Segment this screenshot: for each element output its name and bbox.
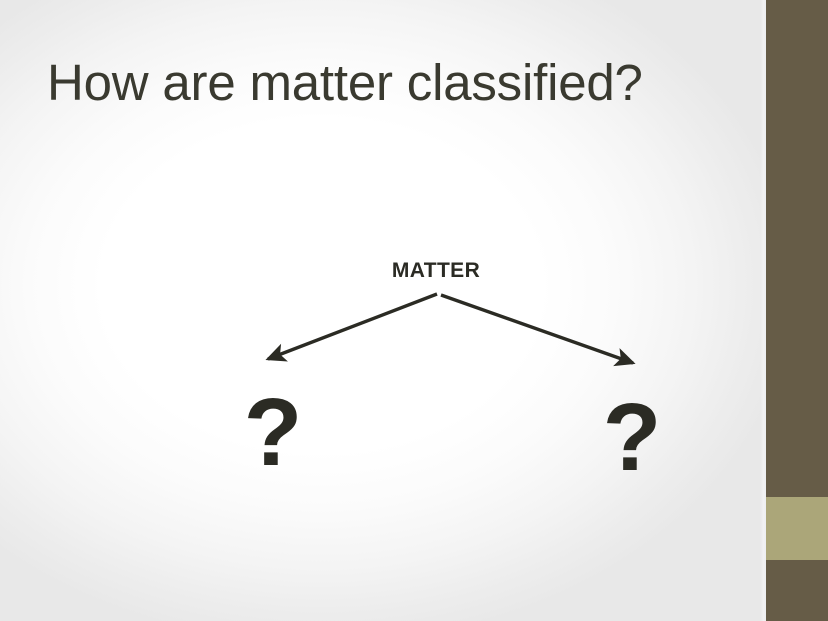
diagram-root-label: MATTER: [336, 259, 536, 283]
branch-label-left: ?: [243, 385, 303, 481]
matter-classification-diagram: MATTER ? ?: [0, 0, 766, 621]
sidebar-band-bottom: [766, 560, 828, 621]
diagram-arrows: [0, 0, 766, 621]
slide-content-area: How are matter classified? MATTER ? ?: [0, 0, 766, 621]
decorative-sidebar: [766, 0, 828, 621]
sidebar-band-middle: [766, 497, 828, 560]
slide: How are matter classified? MATTER ? ?: [0, 0, 828, 621]
branch-arrow-left: [268, 294, 437, 359]
sidebar-band-top: [766, 0, 828, 497]
branch-label-right: ?: [602, 390, 662, 486]
branch-arrow-right: [441, 295, 633, 363]
